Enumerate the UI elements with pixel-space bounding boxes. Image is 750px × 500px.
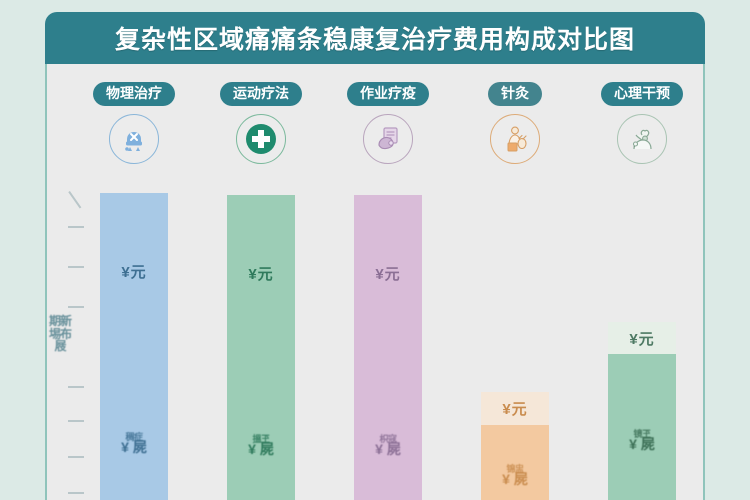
bar-occupational-therapy[interactable]: ¥元 枳寇 ¥ 屍 <box>354 195 422 500</box>
category-label-acupuncture[interactable]: 针灸 <box>488 82 542 106</box>
category-physical-therapy[interactable]: 物理治疗 <box>74 82 194 164</box>
bar-body: ¥元 枳寇 ¥ 屍 <box>354 195 422 500</box>
axis-tick <box>68 420 84 422</box>
bar-foot-label: 稠症 ¥ 屍 <box>100 433 168 454</box>
bar-body: 锦盅 ¥ 屍 <box>481 425 549 500</box>
category-label-exercise-therapy[interactable]: 运动疗法 <box>220 82 302 106</box>
bar-body: ¥元 稠症 ¥ 屍 <box>100 193 168 500</box>
bar-foot-sub: 稠症 <box>100 433 168 442</box>
category-acupuncture[interactable]: 针灸 <box>455 82 575 164</box>
category-exercise-therapy[interactable]: 运动疗法 <box>201 82 321 164</box>
axis-tick <box>68 179 97 208</box>
category-psychological-intervention[interactable]: 心理干预 <box>582 82 702 164</box>
bar-value-label: ¥元 <box>354 263 422 284</box>
axis-tick <box>68 226 84 228</box>
physical-therapy-icon <box>109 114 159 164</box>
bar-foot-sub: 镜玊 <box>608 430 676 439</box>
axis-tick <box>68 456 84 458</box>
y-axis-title-line-3: 屐 <box>38 340 82 353</box>
bar-body: ¥元 搵玊 ¥ 屍 <box>227 195 295 500</box>
bar-physical-therapy[interactable]: ¥元 稠症 ¥ 屍 <box>100 193 168 500</box>
axis-tick <box>68 306 84 308</box>
bar-cap-label: ¥元 <box>481 392 549 425</box>
bar-foot-label: 搵玊 ¥ 屍 <box>227 435 295 456</box>
bar-foot-label: 锦盅 ¥ 屍 <box>481 465 549 486</box>
medical-cross-icon <box>236 114 286 164</box>
category-label-occupational-therapy[interactable]: 作业疗疫 <box>347 82 429 106</box>
psychology-icon <box>617 114 667 164</box>
occupational-therapy-icon <box>363 114 413 164</box>
bar-foot-sub: 枳寇 <box>354 435 422 444</box>
bar-psychological-intervention[interactable]: ¥元 镜玊 ¥ 屍 <box>608 322 676 500</box>
bar-foot-label: 镜玊 ¥ 屍 <box>608 430 676 451</box>
y-axis-title: 期新 埸布 屐 <box>38 315 82 353</box>
axis-tick <box>68 386 84 388</box>
infographic-poster: 复杂性区域痛痛条稳康复治疗费用构成对比图 期新 埸布 屐 ¥元 稠症 ¥ 屍 <box>0 0 750 500</box>
axis-tick <box>68 266 84 268</box>
bar-exercise-therapy[interactable]: ¥元 搵玊 ¥ 屍 <box>227 195 295 500</box>
bar-foot-sub: 搵玊 <box>227 435 295 444</box>
bar-series: ¥元 稠症 ¥ 屍 ¥元 搵玊 ¥ 屍 ¥元 枳寇 <box>0 0 750 500</box>
category-label-psychological-intervention[interactable]: 心理干预 <box>601 82 683 106</box>
bar-foot-label: 枳寇 ¥ 屍 <box>354 435 422 456</box>
page-title: 复杂性区域痛痛条稳康复治疗费用构成对比图 <box>115 20 635 56</box>
axis-tick <box>68 492 84 494</box>
bar-value-label: ¥元 <box>227 263 295 284</box>
title-bar: 复杂性区域痛痛条稳康复治疗费用构成对比图 <box>45 12 705 64</box>
bar-foot-sub: 锦盅 <box>481 465 549 474</box>
bar-value-label: ¥元 <box>100 261 168 282</box>
bar-cap-label: ¥元 <box>608 322 676 354</box>
bar-acupuncture[interactable]: ¥元 锦盅 ¥ 屍 <box>481 392 549 500</box>
category-occupational-therapy[interactable]: 作业疗疫 <box>328 82 448 164</box>
bar-body: 镜玊 ¥ 屍 <box>608 354 676 500</box>
category-label-physical-therapy[interactable]: 物理治疗 <box>93 82 175 106</box>
acupuncture-icon <box>490 114 540 164</box>
y-axis-title-line-1: 期新 <box>38 315 82 328</box>
